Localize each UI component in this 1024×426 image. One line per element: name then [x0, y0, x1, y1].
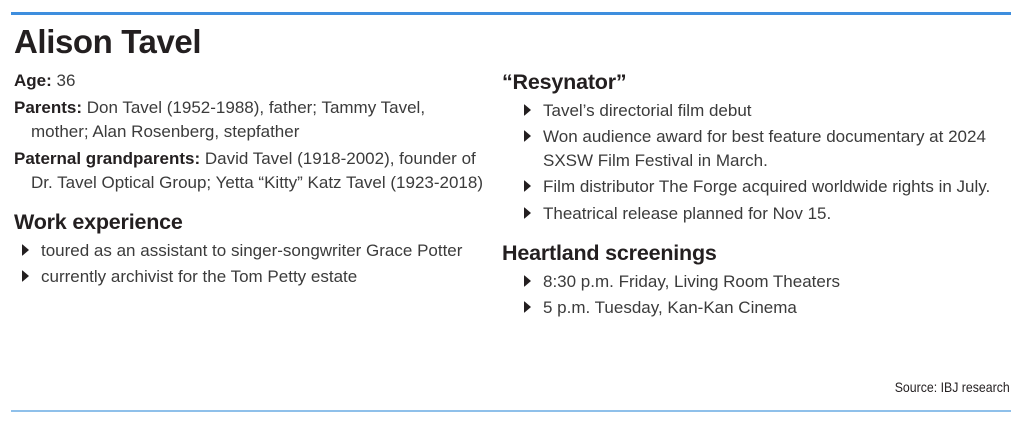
- triangle-bullet-icon: [524, 180, 531, 192]
- fact-value-age: 36: [52, 71, 76, 90]
- infographic-panel: Alison Tavel Age: 36 Parents: Don Tavel …: [0, 0, 1024, 426]
- fact-row-age: Age: 36: [14, 69, 484, 93]
- fact-row-parents: Parents: Don Tavel (1952-1988), father; …: [14, 96, 484, 143]
- facts-list: Age: 36 Parents: Don Tavel (1952-1988), …: [14, 69, 484, 195]
- right-column: “Resynator” Tavel’s directorial film deb…: [502, 70, 1014, 323]
- list-item-label: Won audience award for best feature docu…: [543, 127, 986, 170]
- triangle-bullet-icon: [524, 275, 531, 287]
- triangle-bullet-icon: [524, 301, 531, 313]
- triangle-bullet-icon: [524, 207, 531, 219]
- list-item-label: Tavel’s directorial film debut: [543, 101, 752, 120]
- work-experience-list: toured as an assistant to singer-songwri…: [14, 239, 484, 289]
- list-item-label: currently archivist for the Tom Petty es…: [41, 267, 357, 286]
- resynator-list: Tavel’s directorial film debut Won audie…: [502, 99, 1014, 226]
- list-item: 5 p.m. Tuesday, Kan-Kan Cinema: [502, 296, 1014, 320]
- list-item: currently archivist for the Tom Petty es…: [14, 265, 484, 289]
- section-heading-work-experience: Work experience: [14, 210, 484, 235]
- left-column: Alison Tavel Age: 36 Parents: Don Tavel …: [14, 24, 484, 292]
- list-item: toured as an assistant to singer-songwri…: [14, 239, 484, 263]
- fact-row-paternal-grandparents: Paternal grandparents: David Tavel (1918…: [14, 147, 484, 194]
- fact-term-paternal-grandparents: Paternal grandparents:: [14, 149, 200, 168]
- list-item: Theatrical release planned for Nov 15.: [502, 202, 1014, 226]
- bottom-accent-rule: [11, 410, 1011, 412]
- fact-value-parents: Don Tavel (1952-1988), father; Tammy Tav…: [31, 98, 425, 141]
- top-accent-rule: [11, 12, 1011, 15]
- list-item-label: Film distributor The Forge acquired worl…: [543, 177, 990, 196]
- list-item: Tavel’s directorial film debut: [502, 99, 1014, 123]
- triangle-bullet-icon: [524, 130, 531, 142]
- list-item-label: Theatrical release planned for Nov 15.: [543, 204, 831, 223]
- heartland-screenings-list: 8:30 p.m. Friday, Living Room Theaters 5…: [502, 270, 1014, 320]
- list-item-label: toured as an assistant to singer-songwri…: [41, 241, 462, 260]
- section-heading-heartland-screenings: Heartland screenings: [502, 241, 1014, 266]
- fact-term-parents: Parents:: [14, 98, 82, 117]
- list-item: Won audience award for best feature docu…: [502, 125, 1014, 172]
- section-heading-resynator: “Resynator”: [502, 70, 1014, 95]
- list-item-label: 5 p.m. Tuesday, Kan-Kan Cinema: [543, 298, 797, 317]
- triangle-bullet-icon: [524, 104, 531, 116]
- fact-term-age: Age:: [14, 71, 52, 90]
- page-title: Alison Tavel: [14, 24, 484, 60]
- triangle-bullet-icon: [22, 244, 29, 256]
- source-attribution: Source: IBJ research: [895, 379, 1010, 395]
- list-item-label: 8:30 p.m. Friday, Living Room Theaters: [543, 272, 840, 291]
- list-item: Film distributor The Forge acquired worl…: [502, 175, 1014, 199]
- triangle-bullet-icon: [22, 270, 29, 282]
- list-item: 8:30 p.m. Friday, Living Room Theaters: [502, 270, 1014, 294]
